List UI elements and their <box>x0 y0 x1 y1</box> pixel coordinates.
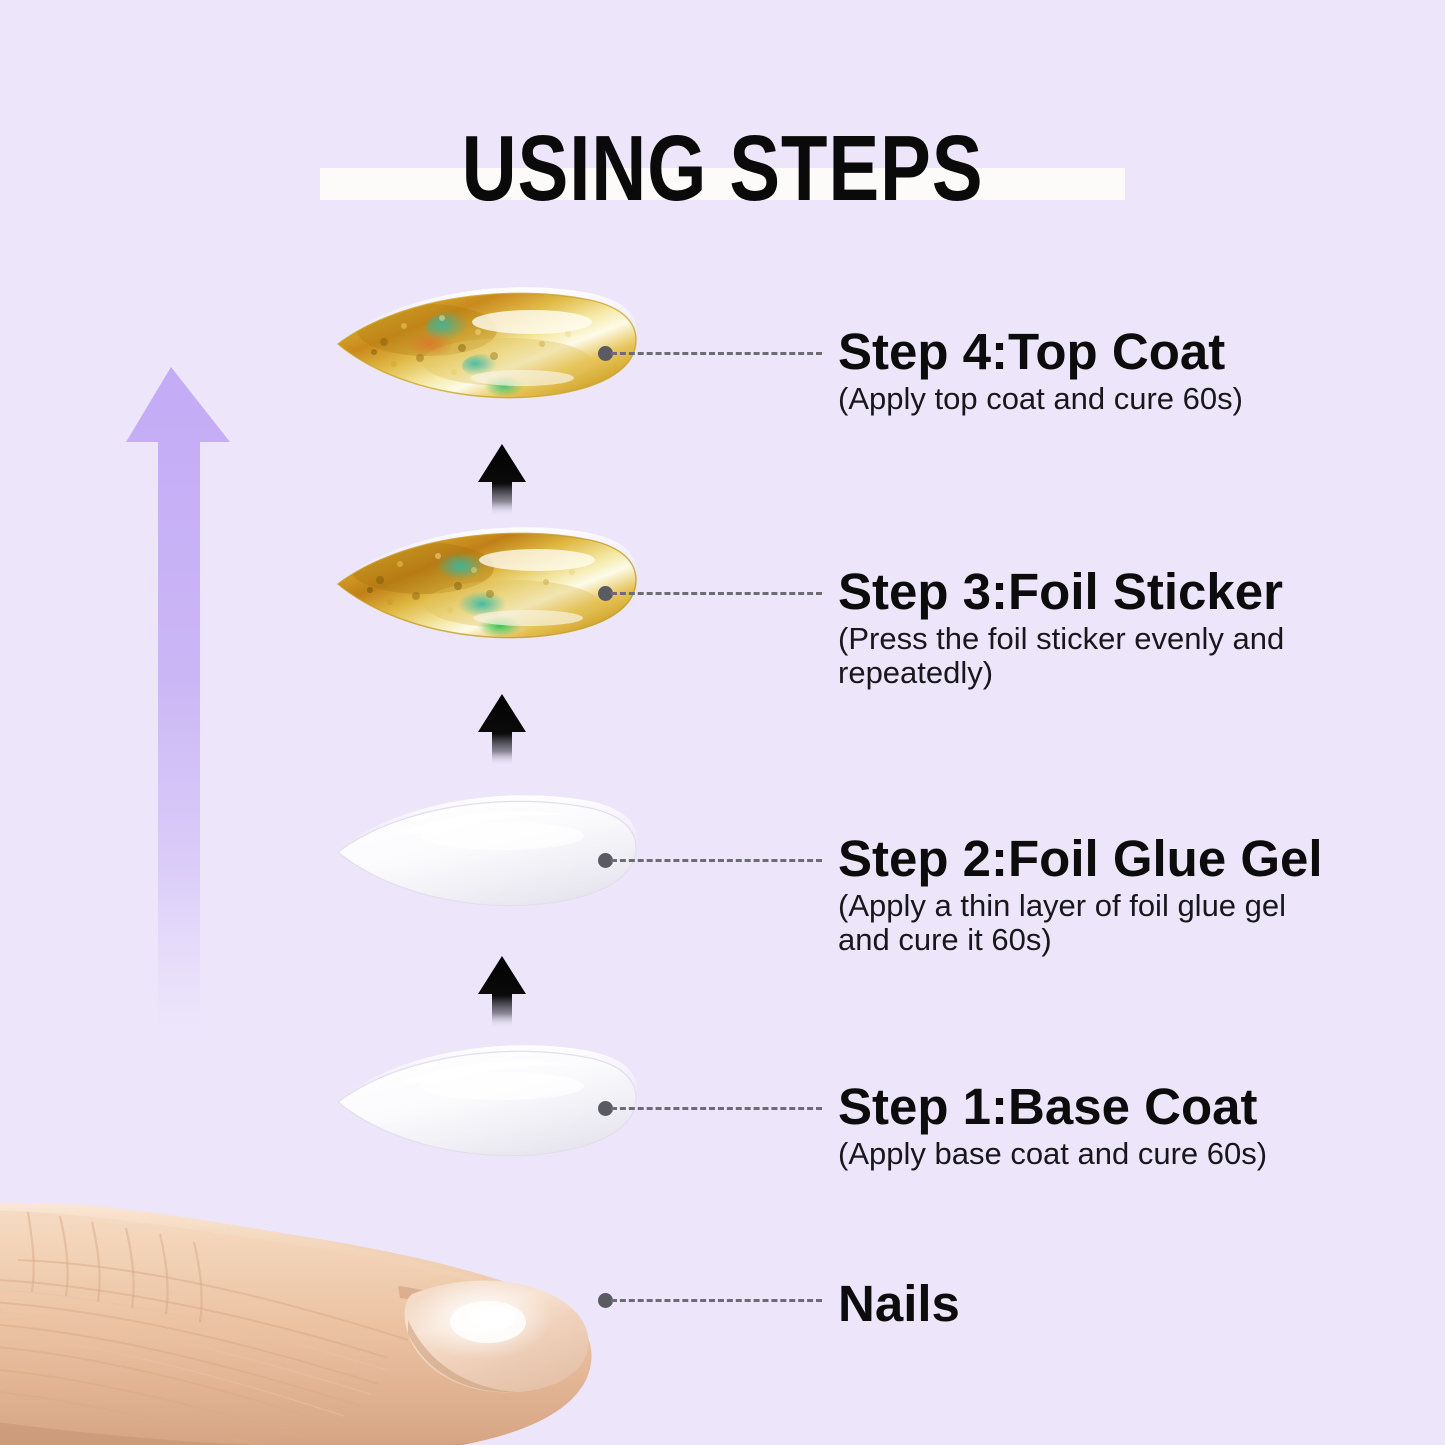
connector-arrow-up-icon-1 <box>472 952 532 1028</box>
label-step-1: Step 1:Base Coat (Apply base coat and cu… <box>838 1077 1267 1171</box>
step-1-title: Step 1:Base Coat <box>838 1077 1267 1137</box>
step-3-title: Step 3:Foil Sticker <box>838 562 1338 622</box>
label-step-4: Step 4:Top Coat (Apply top coat and cure… <box>838 322 1243 416</box>
leader-dash-icon <box>611 352 822 355</box>
leader-line-nails <box>598 1290 822 1304</box>
leader-line-step-1 <box>598 1098 822 1112</box>
leader-dash-icon <box>611 1107 822 1110</box>
nail-swatch-step-4 <box>332 282 642 404</box>
step-3-subtitle: (Press the foil sticker evenly and repea… <box>838 622 1338 690</box>
step-2-title: Step 2:Foil Glue Gel <box>838 829 1338 889</box>
step-4-subtitle: (Apply top coat and cure 60s) <box>838 382 1243 416</box>
leader-line-step-2 <box>598 850 822 864</box>
label-step-3: Step 3:Foil Sticker (Press the foil stic… <box>838 562 1338 690</box>
fingertip-photo <box>0 1168 648 1445</box>
nail-swatch-step-3 <box>332 522 642 644</box>
nail-swatch-step-1 <box>332 1040 642 1162</box>
leader-dash-icon <box>611 592 822 595</box>
connector-arrow-up-icon-2 <box>472 690 532 766</box>
upward-progress-arrow-icon <box>112 362 252 1062</box>
step-4-title: Step 4:Top Coat <box>838 322 1243 382</box>
nail-swatch-step-2 <box>332 790 642 912</box>
leader-dash-icon <box>611 1299 822 1302</box>
label-step-2: Step 2:Foil Glue Gel (Apply a thin layer… <box>838 829 1338 957</box>
step-1-subtitle: (Apply base coat and cure 60s) <box>838 1137 1267 1171</box>
step-2-subtitle: (Apply a thin layer of foil glue gel and… <box>838 889 1338 957</box>
connector-arrow-up-icon-3 <box>472 440 532 516</box>
using-steps-infographic: USING STEPS <box>0 0 1445 1445</box>
page-title-area: USING STEPS <box>0 118 1445 228</box>
leader-dash-icon <box>611 859 822 862</box>
nails-label: Nails <box>838 1274 960 1334</box>
page-title: USING STEPS <box>130 118 1315 218</box>
leader-line-step-4 <box>598 343 822 357</box>
leader-line-step-3 <box>598 583 822 597</box>
